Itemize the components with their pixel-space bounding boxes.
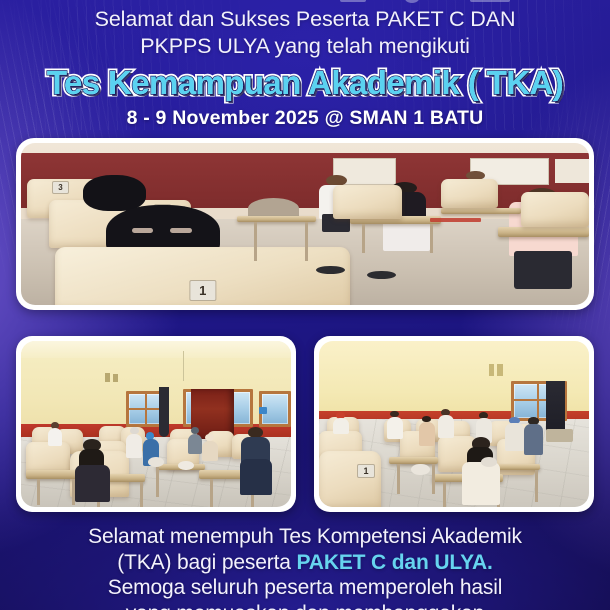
desk-number-1: 1 xyxy=(189,280,216,301)
photo-bottom-right: 1 xyxy=(314,336,594,512)
footer-line-2-prefix: (TKA) bagi peserta xyxy=(117,551,296,574)
footer-line-2-highlight: PAKET C dan ULYA. xyxy=(297,551,493,574)
footer-line-1: Selamat menempuh Tes Kompetensi Akademik xyxy=(0,524,610,550)
footer-line-3: Semoga seluruh peserta memperoleh hasil xyxy=(0,575,610,601)
photo-bottom-right-image: 1 xyxy=(319,341,589,507)
poster-title: Tes Kemampuan Akademik ( TKA) xyxy=(47,64,563,102)
date-venue-line: 8 - 9 November 2025 @ SMAN 1 BATU xyxy=(0,107,610,130)
footer-line-2: (TKA) bagi peserta PAKET C dan ULYA. xyxy=(0,550,610,576)
photo-bottom-left-image xyxy=(21,341,291,507)
photo-bottom-left xyxy=(16,336,296,512)
desk-number-3: 3 xyxy=(52,181,68,194)
header-line-2: PKPPS ULYA yang telah mengikuti xyxy=(0,33,610,60)
photo-main: 3 2 1 xyxy=(16,138,594,310)
photo-main-image: 3 2 1 xyxy=(21,143,589,305)
poster-canvas: Selamat dan Sukses Peserta PAKET C DAN P… xyxy=(0,0,610,610)
title-container: Tes Kemampuan Akademik ( TKA) xyxy=(0,64,610,102)
poster-header: Selamat dan Sukses Peserta PAKET C DAN P… xyxy=(0,0,610,130)
desk-number-1-br: 1 xyxy=(357,464,374,478)
header-line-1: Selamat dan Sukses Peserta PAKET C DAN xyxy=(0,0,610,33)
poster-footer: Selamat menempuh Tes Kompetensi Akademik… xyxy=(0,524,610,610)
footer-line-4: yang memuaskan dan membanggakan xyxy=(0,601,610,610)
